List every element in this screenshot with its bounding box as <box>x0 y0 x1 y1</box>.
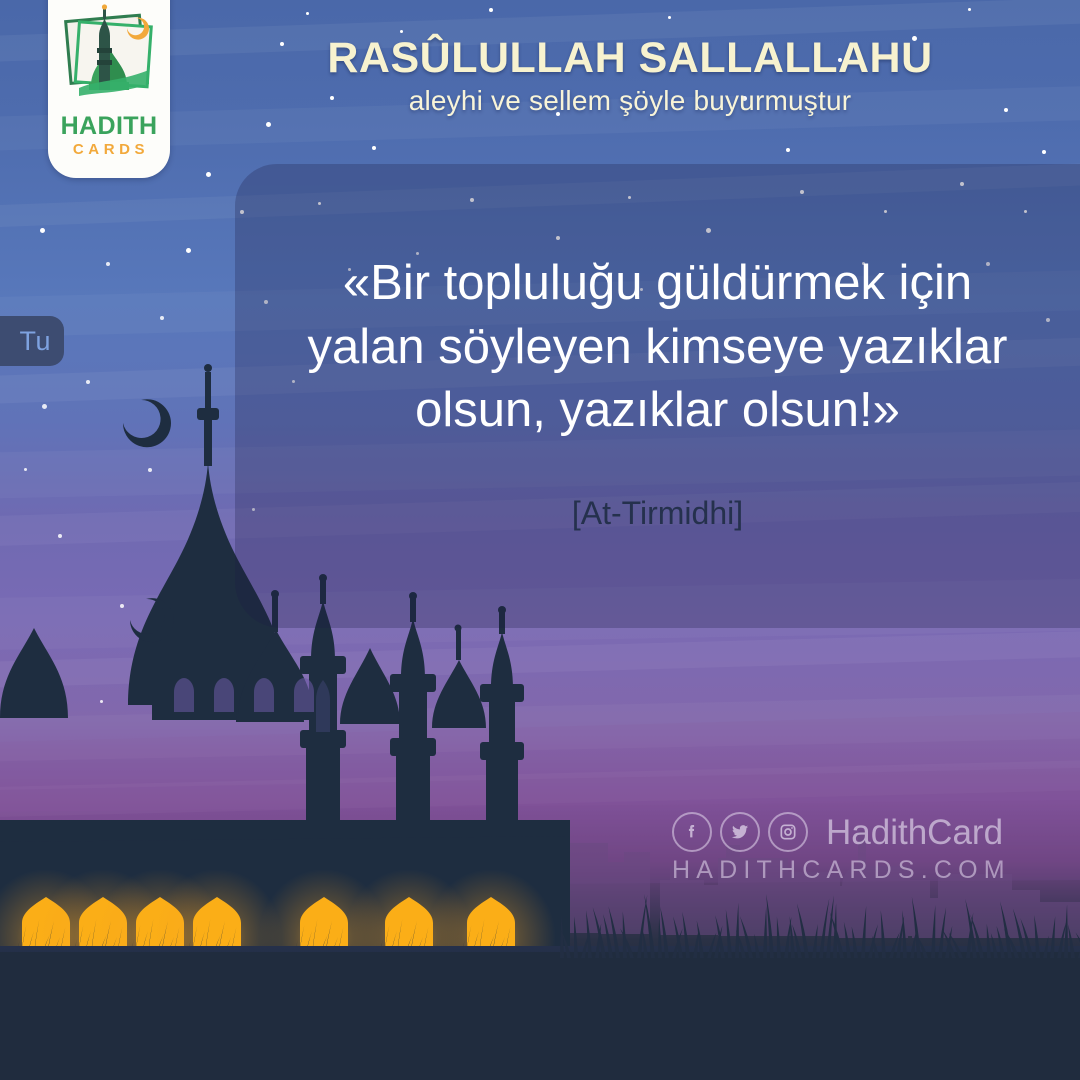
brand-logo[interactable]: HADITH CARDS <box>48 0 170 178</box>
mosque-photo-icon <box>57 2 161 114</box>
brand-wordmark: HADITH CARDS <box>48 114 170 157</box>
social-icon-row: HadithCard <box>672 812 1032 852</box>
social-handle[interactable]: HadithCard <box>826 815 1003 850</box>
brand-name-secondary: CARDS <box>48 142 170 157</box>
header-block: RASÛLULLAH SALLALLAHU aleyhi ve sellem ş… <box>190 36 1070 116</box>
language-badge-label: Tu <box>19 326 51 357</box>
header-title: RASÛLULLAH SALLALLAHU <box>190 36 1070 82</box>
facebook-icon[interactable] <box>672 812 712 852</box>
social-footer: HadithCard HADITHCARDS.COM <box>672 812 1032 885</box>
instagram-icon[interactable] <box>768 812 808 852</box>
twitter-icon[interactable] <box>720 812 760 852</box>
brand-name-primary: HADITH <box>48 114 170 139</box>
quote-panel: «Bir topluluğu güldürmek için yalan söyl… <box>235 164 1080 628</box>
quote-source: [At-Tirmidhi] <box>235 495 1080 532</box>
hadith-card-image: HADITH CARDS RASÛLULLAH SALLALLAHU aleyh… <box>0 0 1080 1080</box>
language-badge[interactable]: Tu <box>0 316 64 366</box>
quote-text: «Bir topluluğu güldürmek için yalan söyl… <box>288 252 1028 443</box>
header-subtitle: aleyhi ve sellem şöyle buyurmuştur <box>190 86 1070 117</box>
website-url[interactable]: HADITHCARDS.COM <box>672 856 1032 885</box>
